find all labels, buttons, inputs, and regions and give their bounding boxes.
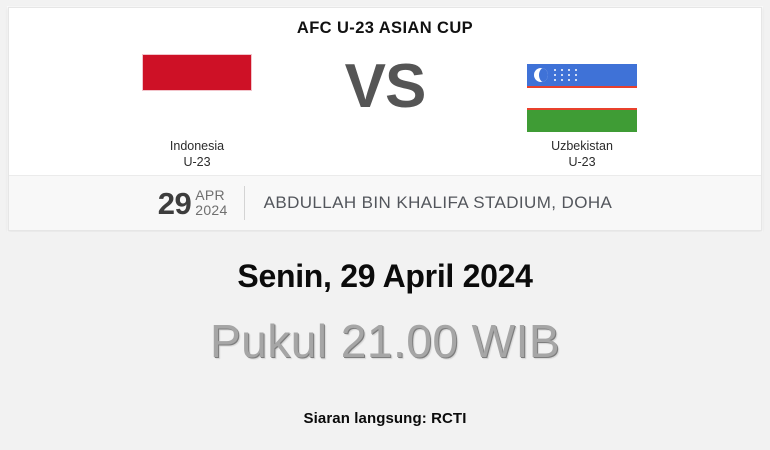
flag-band-green <box>527 110 637 132</box>
twelve-stars-icon <box>554 69 588 83</box>
uzbekistan-flag-icon <box>527 64 637 132</box>
match-date-month: APR <box>195 188 227 203</box>
home-team-name: Indonesia U-23 <box>87 138 307 170</box>
home-team-name-line2: U-23 <box>87 154 307 170</box>
fixture-card: AFC U-23 ASIAN CUP Indonesia U-23 VS <box>8 7 762 231</box>
match-date-heading: Senin, 29 April 2024 <box>0 258 770 295</box>
flag-band-white <box>527 88 637 108</box>
broadcast-info: Siaran langsung: RCTI <box>0 410 770 427</box>
match-date-monthyear: APR 2024 <box>195 188 227 218</box>
crescent-moon-icon <box>534 68 548 82</box>
match-time-heading: Pukul 21.00 WIB <box>0 314 770 368</box>
match-date-day: 29 <box>158 188 191 219</box>
away-team-name: Uzbekistan U-23 <box>472 138 692 170</box>
match-date-year: 2024 <box>195 203 227 218</box>
fixture-card-footer: 29 APR 2024 ABDULLAH BIN KHALIFA STADIUM… <box>9 175 761 230</box>
match-info-block: Senin, 29 April 2024 Pukul 21.00 WIB Sia… <box>0 232 770 450</box>
away-team-name-line1: Uzbekistan <box>472 138 692 154</box>
away-team-block: Uzbekistan U-23 <box>472 54 692 170</box>
match-date-block: 29 APR 2024 <box>158 188 228 219</box>
fixture-card-body: AFC U-23 ASIAN CUP Indonesia U-23 VS <box>9 8 761 176</box>
footer-divider <box>244 186 245 220</box>
home-team-name-line1: Indonesia <box>87 138 307 154</box>
tournament-title: AFC U-23 ASIAN CUP <box>9 19 761 38</box>
away-team-name-line2: U-23 <box>472 154 692 170</box>
venue-label: ABDULLAH BIN KHALIFA STADIUM, DOHA <box>264 193 613 213</box>
